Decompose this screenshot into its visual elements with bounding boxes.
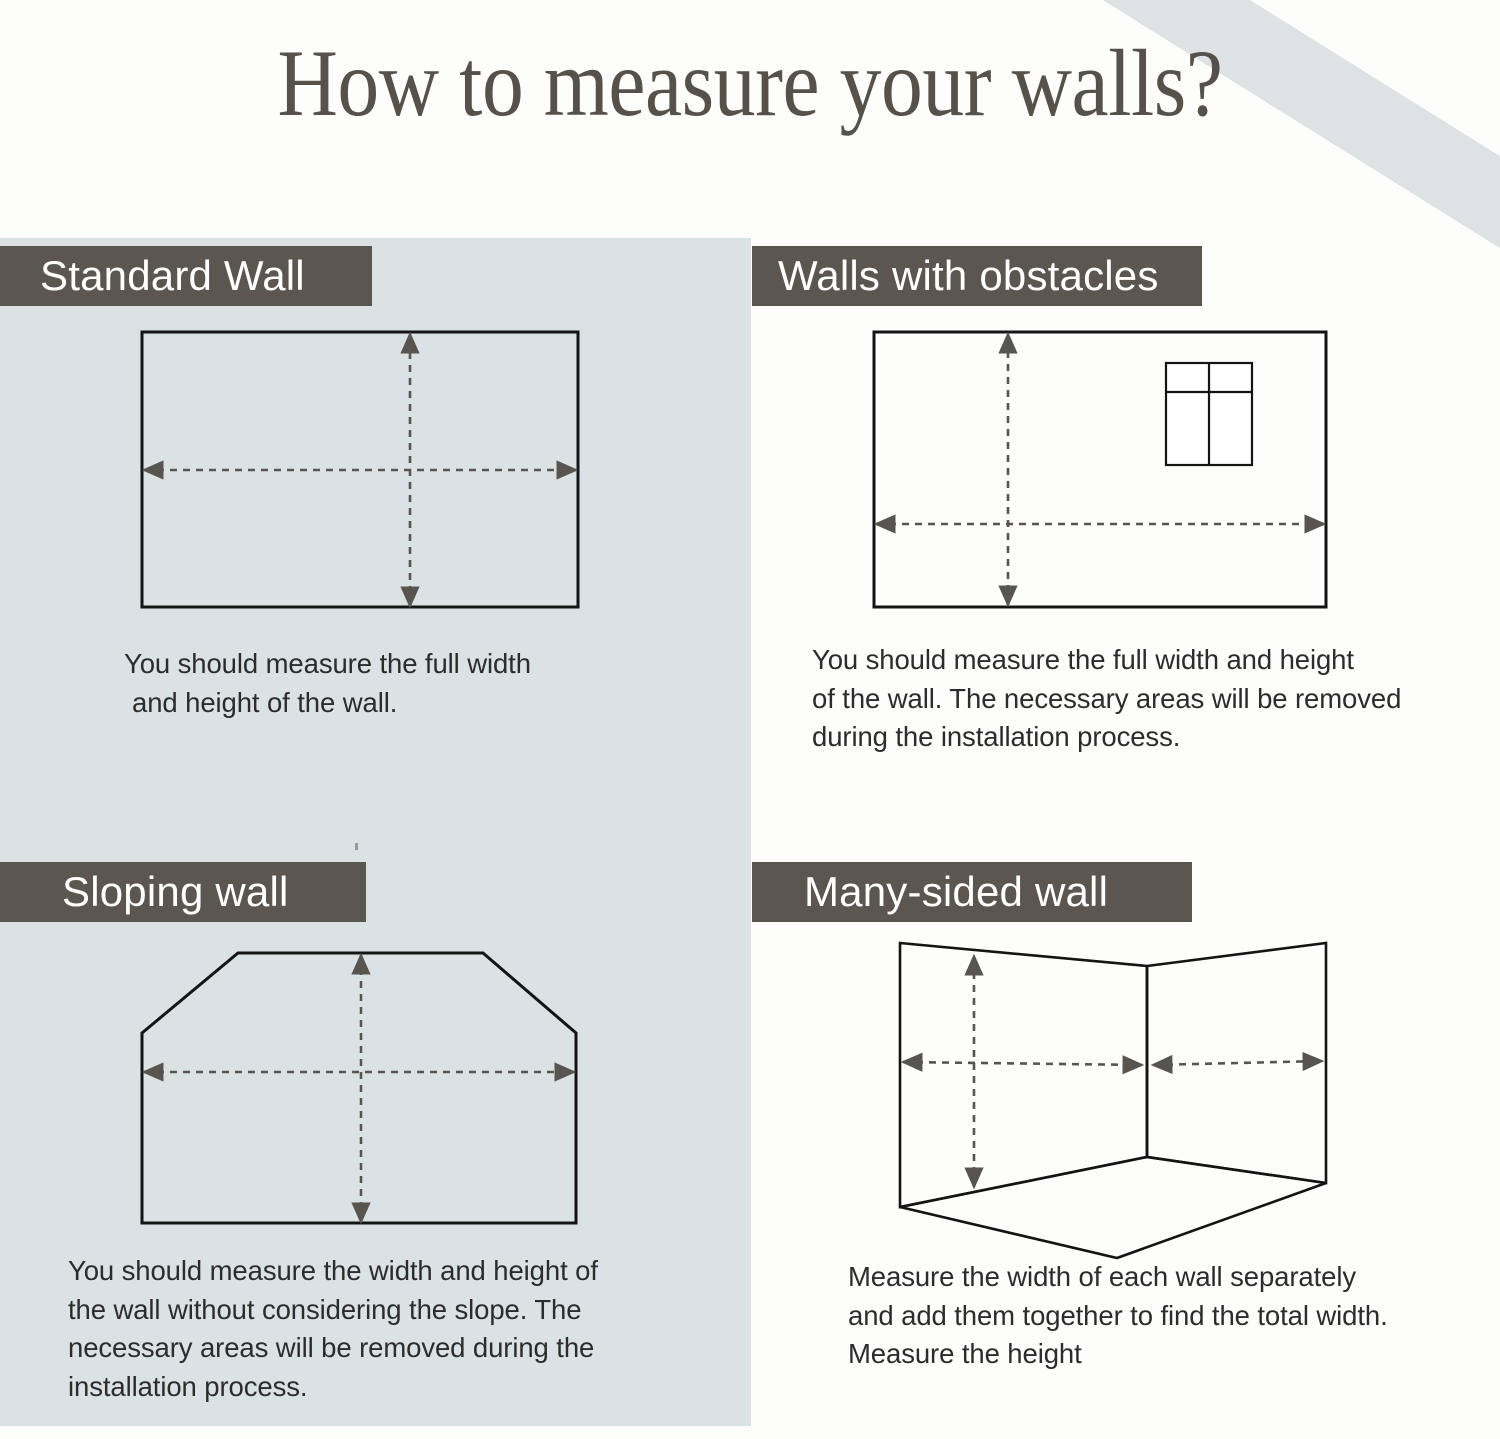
- section-header-label: Walls with obstacles: [752, 246, 1202, 306]
- many-sided-wall-diagram: [870, 925, 1350, 1265]
- window-icon: [1166, 363, 1252, 465]
- sloping-wall-diagram: [120, 935, 600, 1250]
- caption-line: Measure the height: [848, 1335, 1468, 1374]
- standard-wall-diagram: [120, 320, 600, 620]
- section-header-label: Standard Wall: [0, 246, 372, 306]
- section-header-sloping-wall: Sloping wall: [0, 862, 366, 922]
- caption-line: You should measure the width and height …: [68, 1252, 688, 1291]
- caption-line: You should measure the full width: [124, 645, 644, 684]
- caption-line: during the installation process.: [812, 718, 1472, 757]
- caption-standard-wall: You should measure the full width and he…: [124, 645, 644, 722]
- caption-line: the wall without considering the slope. …: [68, 1291, 688, 1330]
- section-header-many-sided-wall: Many-sided wall: [752, 862, 1192, 922]
- decorative-speck: [355, 843, 358, 850]
- caption-many-sided-wall: Measure the width of each wall separatel…: [848, 1258, 1468, 1374]
- caption-sloping-wall: You should measure the width and height …: [68, 1252, 688, 1406]
- page-title: How to measure your walls?: [90, 34, 1410, 134]
- caption-walls-with-obstacles: You should measure the full width and he…: [812, 641, 1472, 757]
- caption-line: necessary areas will be removed during t…: [68, 1329, 688, 1368]
- section-header-label: Many-sided wall: [752, 862, 1192, 922]
- caption-line: installation process.: [68, 1368, 688, 1407]
- wall-with-window-diagram: [860, 320, 1340, 620]
- section-header-walls-with-obstacles: Walls with obstacles: [752, 246, 1202, 306]
- caption-line: You should measure the full width and he…: [812, 641, 1472, 680]
- caption-line: of the wall. The necessary areas will be…: [812, 680, 1472, 719]
- infographic-page: How to measure your walls? Standard Wall…: [0, 0, 1500, 1439]
- section-header-label: Sloping wall: [0, 862, 366, 922]
- section-header-standard-wall: Standard Wall: [0, 246, 372, 306]
- caption-line: and height of the wall.: [124, 684, 644, 723]
- caption-line: Measure the width of each wall separatel…: [848, 1258, 1468, 1297]
- caption-line: and add them together to find the total …: [848, 1297, 1468, 1336]
